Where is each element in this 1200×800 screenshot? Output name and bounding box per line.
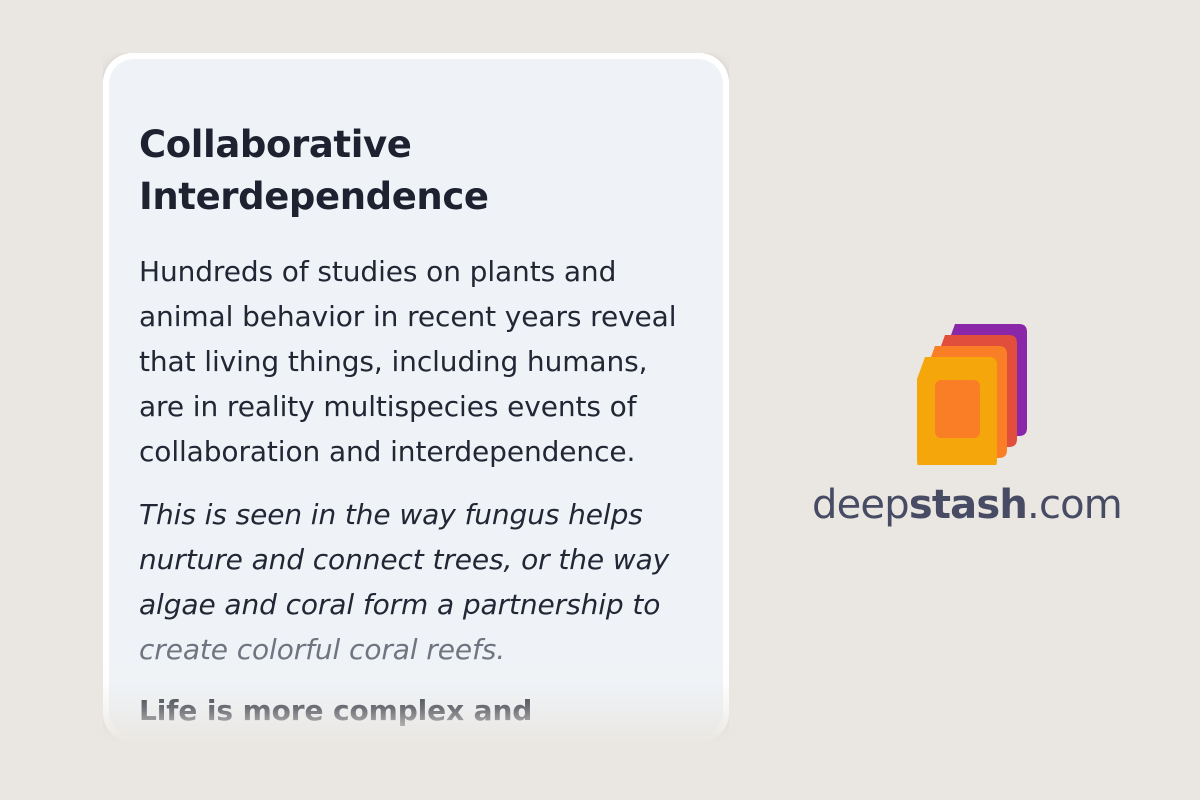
card-content: Collaborative Interdependence Hundreds o… bbox=[109, 59, 723, 737]
wordmark-stash: stash bbox=[909, 482, 1027, 528]
card-paragraph-2-faded-tail: create colorful coral reefs. bbox=[139, 633, 505, 666]
deepstash-wordmark: deepstash.com bbox=[802, 482, 1132, 528]
wordmark-tld: .com bbox=[1027, 482, 1122, 528]
card-fade-mask: Collaborative Interdependence Hundreds o… bbox=[103, 53, 729, 753]
wordmark-deep: deep bbox=[812, 482, 909, 528]
screenshot-stage: Collaborative Interdependence Hundreds o… bbox=[0, 0, 1200, 800]
card-paragraph-1: Hundreds of studies on plants and animal… bbox=[139, 249, 687, 474]
page-title: Collaborative Interdependence bbox=[139, 119, 559, 223]
deepstash-logo-icon bbox=[897, 310, 1037, 465]
brand-block: deepstash.com bbox=[802, 300, 1132, 545]
card-white-border: Collaborative Interdependence Hundreds o… bbox=[103, 53, 729, 743]
card-paragraph-3: Life is more complex and bbox=[139, 688, 687, 733]
card-paragraph-2: This is seen in the way fungus helps nur… bbox=[139, 492, 687, 672]
idea-card[interactable]: Collaborative Interdependence Hundreds o… bbox=[103, 53, 729, 753]
